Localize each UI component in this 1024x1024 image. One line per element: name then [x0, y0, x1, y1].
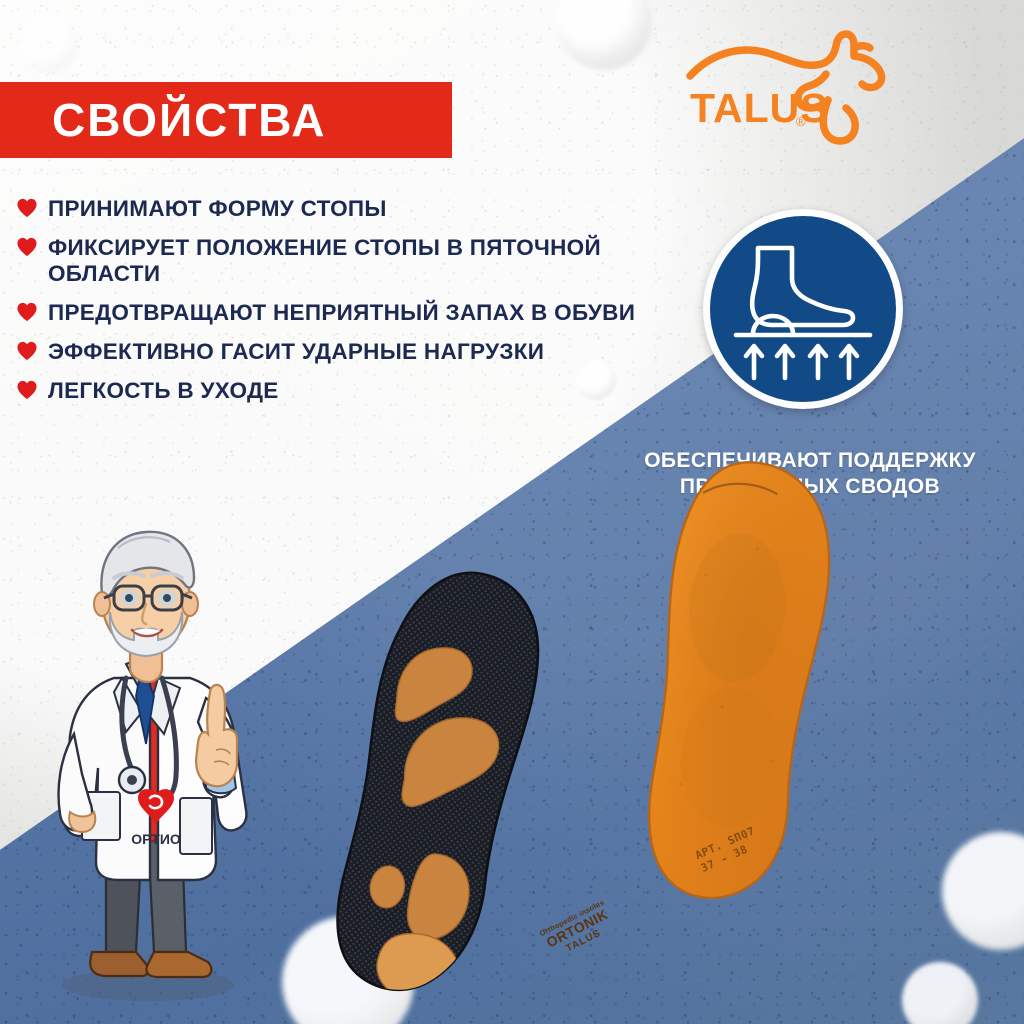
list-item: ФИКСИРУЕТ ПОЛОЖЕНИЕ СТОПЫ В ПЯТОЧНОЙ ОБЛ… [16, 235, 666, 287]
heart-icon [16, 198, 38, 218]
list-item-label: ПРЕДОТВРАЩАЮТ НЕПРИЯТНЫЙ ЗАПАХ В ОБУВИ [48, 300, 635, 326]
talus-logo: TALUS ® [676, 18, 906, 148]
list-item: ПРЕДОТВРАЩАЮТ НЕПРИЯТНЫЙ ЗАПАХ В ОБУВИ [16, 300, 666, 326]
title-banner: СВОЙСТВА [0, 82, 452, 158]
arch-support-badge [703, 209, 903, 409]
list-item-label: ЛЕГКОСТЬ В УХОДЕ [48, 378, 279, 404]
promo-banner: СВОЙСТВА TALUS ® ПРИНИМАЮТ ФОРМУ СТОПЫ [0, 0, 1024, 1024]
page-title: СВОЙСТВА [0, 97, 326, 143]
heart-icon [16, 302, 38, 322]
list-item-label: ПРИНИМАЮТ ФОРМУ СТОПЫ [48, 196, 387, 222]
foot-arch-support-icon [710, 216, 896, 402]
doctor-illustration: ОРТИО [30, 482, 280, 1002]
heart-icon [16, 380, 38, 400]
list-item: ПРИНИМАЮТ ФОРМУ СТОПЫ [16, 196, 666, 222]
list-item-label: ЭФФЕКТИВНО ГАСИТ УДАРНЫЕ НАГРУЗКИ [48, 339, 544, 365]
heart-icon [16, 237, 38, 257]
coat-badge-label: ОРТИО [131, 831, 181, 847]
registered-mark: ® [796, 114, 806, 129]
kangaroo-icon: TALUS ® [676, 18, 906, 148]
list-item-label: ФИКСИРУЕТ ПОЛОЖЕНИЕ СТОПЫ В ПЯТОЧНОЙ ОБЛ… [48, 235, 666, 287]
feature-list: ПРИНИМАЮТ ФОРМУ СТОПЫ ФИКСИРУЕТ ПОЛОЖЕНИ… [16, 196, 666, 418]
list-item: ЛЕГКОСТЬ В УХОДЕ [16, 378, 666, 404]
list-item: ЭФФЕКТИВНО ГАСИТ УДАРНЫЕ НАГРУЗКИ [16, 339, 666, 365]
doctor-character: ОРТИО [30, 482, 280, 1002]
heart-icon [16, 341, 38, 361]
talus-wordmark: TALUS [690, 85, 829, 131]
